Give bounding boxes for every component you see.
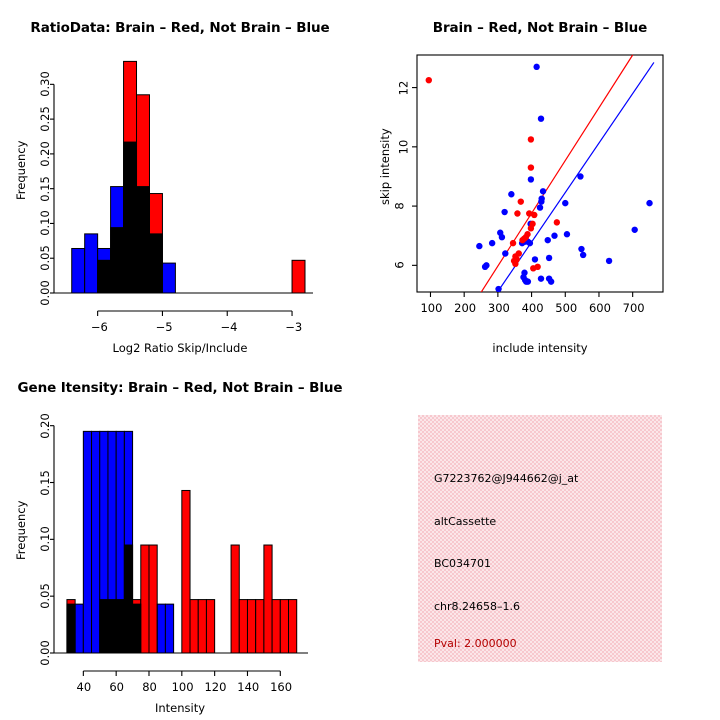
histogram-bar (247, 600, 255, 653)
ratio-histogram-panel: RatioData: Brain – Red, Not Brain – Blue… (0, 0, 360, 360)
gene-intensity-histogram-ytick-0: 0.00 (38, 640, 52, 666)
scatter-xtick-6: 700 (623, 301, 645, 315)
histogram-bar (100, 600, 108, 653)
locus-text: chr8.24658–1.6 (434, 600, 520, 613)
intensity-scatter-y-axis-title: skip intensity (378, 128, 392, 205)
gene-intensity-histogram-xtick-1: 60 (109, 680, 124, 694)
histogram-bar (231, 545, 239, 653)
ratio-histogram-ytick-1: 0.05 (38, 245, 52, 271)
histogram-bar (108, 600, 116, 653)
histogram-bar (75, 604, 83, 653)
scatter-point (606, 258, 612, 264)
scatter-point (495, 286, 501, 292)
scatter-point (554, 219, 560, 225)
scatter-point (577, 173, 583, 179)
scatter-point (545, 237, 551, 243)
histogram-bar (83, 431, 91, 653)
scatter-point (512, 261, 518, 267)
scatter-point (528, 225, 534, 231)
blue-regression-line (497, 62, 654, 293)
scatter-point (521, 270, 527, 276)
scatter-ytick-0: 6 (393, 262, 407, 269)
histogram-bar (124, 61, 137, 293)
scatter-xtick-1: 200 (454, 301, 476, 315)
intensity-scatter-panel: Brain – Red, Not Brain – Blue include in… (360, 0, 720, 360)
histogram-bar (137, 95, 150, 293)
scatter-ytick-1: 8 (393, 202, 407, 209)
ratio-histogram-y-axis-title: Frequency (14, 141, 28, 200)
gene-intensity-histogram-ytick-2: 0.10 (38, 527, 52, 553)
histogram-bar (264, 545, 272, 653)
scatter-point (528, 164, 534, 170)
scatter-xtick-5: 600 (589, 301, 611, 315)
scatter-point (578, 246, 584, 252)
scatter-point (528, 136, 534, 142)
ratio-histogram-ytick-3: 0.15 (38, 176, 52, 202)
ratio-histogram-ytick-5: 0.25 (38, 106, 52, 132)
gene-intensity-histogram-ytick-4: 0.20 (38, 413, 52, 439)
scatter-point (631, 227, 637, 233)
ratio-histogram-canvas (0, 0, 360, 360)
histogram-bar (157, 604, 165, 653)
scatter-point (540, 188, 546, 194)
scatter-point (562, 200, 568, 206)
scatter-point (531, 212, 537, 218)
scatter-point (533, 64, 539, 70)
scatter-point (646, 200, 652, 206)
scatter-xtick-2: 300 (488, 301, 510, 315)
scatter-point (537, 204, 543, 210)
gene-info-box: G7223762@J944662@j_at altCassette BC0347… (418, 415, 662, 662)
gene-intensity-histogram-xtick-6: 160 (270, 680, 292, 694)
ratio-histogram-xtick-0: −6 (91, 320, 108, 334)
scatter-ytick-3: 12 (396, 80, 410, 95)
gene-intensity-histogram-x-axis-title: Intensity (110, 701, 250, 715)
histogram-bar (149, 194, 162, 293)
red-regression-line (480, 55, 632, 293)
scatter-point (501, 209, 507, 215)
histogram-bar (92, 431, 100, 653)
scatter-point (525, 278, 531, 284)
scatter-point (483, 262, 489, 268)
scatter-xtick-0: 100 (420, 301, 442, 315)
accession-text: BC034701 (434, 557, 491, 570)
scatter-point (426, 77, 432, 83)
gene-intensity-histogram-xtick-0: 40 (77, 680, 92, 694)
scatter-point (538, 115, 544, 121)
intensity-scatter-x-axis-title: include intensity (465, 341, 615, 355)
histogram-bar (272, 600, 280, 653)
scatter-point (548, 278, 554, 284)
histogram-bar (67, 600, 75, 653)
scatter-point (476, 243, 482, 249)
scatter-point (532, 256, 538, 262)
histogram-bar (149, 545, 157, 653)
scatter-point (510, 240, 516, 246)
scatter-point (530, 265, 536, 271)
histogram-bar (85, 234, 98, 293)
ratio-histogram-ytick-2: 0.10 (38, 211, 52, 237)
scatter-point (564, 231, 570, 237)
scatter-point (514, 210, 520, 216)
ratio-histogram-xtick-3: −3 (285, 320, 302, 334)
gene-intensity-histogram-xtick-5: 140 (237, 680, 259, 694)
scatter-point (516, 250, 522, 256)
histogram-bar (280, 600, 288, 653)
histogram-bar (162, 263, 175, 293)
histogram-bar (141, 545, 149, 653)
histogram-bar (111, 228, 124, 293)
scatter-point (527, 240, 533, 246)
ratio-histogram-xtick-2: −4 (220, 320, 237, 334)
scatter-point (538, 275, 544, 281)
histogram-bar (206, 600, 214, 653)
scatter-point (538, 198, 544, 204)
gene-intensity-histogram-ytick-3: 0.15 (38, 470, 52, 496)
scatter-point (489, 240, 495, 246)
histogram-bar (182, 490, 190, 653)
gene-intensity-histogram-xtick-3: 100 (172, 680, 194, 694)
gene-info-panel: G7223762@J944662@j_at altCassette BC0347… (360, 360, 720, 720)
histogram-bar (165, 604, 173, 653)
ratio-histogram-ytick-4: 0.20 (38, 141, 52, 167)
ratio-histogram-xtick-1: −5 (156, 320, 173, 334)
ratio-histogram-x-axis-title: Log2 Ratio Skip/Include (95, 341, 265, 355)
histogram-bar (133, 600, 141, 653)
scatter-point (518, 198, 524, 204)
scatter-point (502, 250, 508, 256)
event-type-text: altCassette (434, 515, 496, 528)
scatter-point (528, 176, 534, 182)
histogram-bar (72, 248, 85, 293)
gene-intensity-histogram-xtick-2: 80 (142, 680, 157, 694)
pval-text: Pval: 2.000000 (434, 637, 517, 650)
scatter-point (546, 255, 552, 261)
gene-intensity-histogram-panel: Gene Itensity: Brain – Red, Not Brain – … (0, 360, 360, 720)
gene-intensity-histogram-ytick-1: 0.05 (38, 583, 52, 609)
probe-id-text: G7223762@J944662@j_at (434, 472, 578, 485)
scatter-point (551, 233, 557, 239)
scatter-ytick-2: 10 (396, 140, 410, 155)
histogram-bar (239, 600, 247, 653)
histogram-bar (116, 600, 124, 653)
scatter-point (508, 191, 514, 197)
histogram-bar (289, 600, 297, 653)
gene-intensity-histogram-xtick-4: 120 (204, 680, 226, 694)
histogram-bar (292, 260, 305, 293)
gene-intensity-histogram-y-axis-title: Frequency (14, 501, 28, 560)
scatter-point (519, 237, 525, 243)
histogram-bar (124, 545, 132, 653)
ratio-histogram-ytick-0: 0.00 (38, 280, 52, 306)
scatter-xtick-3: 400 (522, 301, 544, 315)
histogram-bar (190, 600, 198, 653)
histogram-bar (256, 600, 264, 653)
histogram-bar (98, 260, 111, 293)
scatter-point (499, 234, 505, 240)
histogram-bar (198, 600, 206, 653)
scatter-xtick-4: 500 (555, 301, 577, 315)
ratio-histogram-ytick-6: 0.30 (38, 72, 52, 98)
gene-intensity-histogram-canvas (0, 360, 360, 720)
scatter-plot-frame (417, 55, 663, 292)
scatter-point (580, 252, 586, 258)
